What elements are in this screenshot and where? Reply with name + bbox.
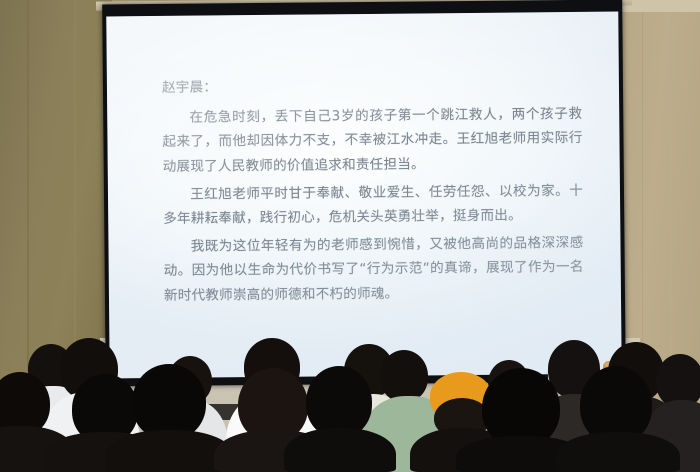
slide-speaker-name: 赵宇晨： (162, 72, 582, 100)
slide-paragraph-3: 我既为这位年轻有为的老师感到惋惜，又被他高尚的品格深深感动。因为他以生命为代价书… (163, 231, 584, 308)
lecture-hall-scene: 赵宇晨： 在危急时刻，丢下自己3岁的孩子第一个跳江救人，两个孩子救起来了，而他却… (0, 0, 700, 472)
slide-content: 赵宇晨： 在危急时刻，丢下自己3岁的孩子第一个跳江救人，两个孩子救起来了，而他却… (162, 72, 584, 312)
slide-paragraph-1: 在危急时刻，丢下自己3岁的孩子第一个跳江救人，两个孩子救起来了，而他却因体力不支… (162, 102, 583, 179)
projection-screen: 赵宇晨： 在危急时刻，丢下自己3岁的孩子第一个跳江救人，两个孩子救起来了，而他却… (106, 12, 621, 379)
slide-paragraph-2: 王红旭老师平时甘于奉献、敬业爱生、任劳任怨、以校为家。十多年耕耘奉献，践行初心，… (163, 179, 583, 231)
audience-row (0, 330, 700, 472)
